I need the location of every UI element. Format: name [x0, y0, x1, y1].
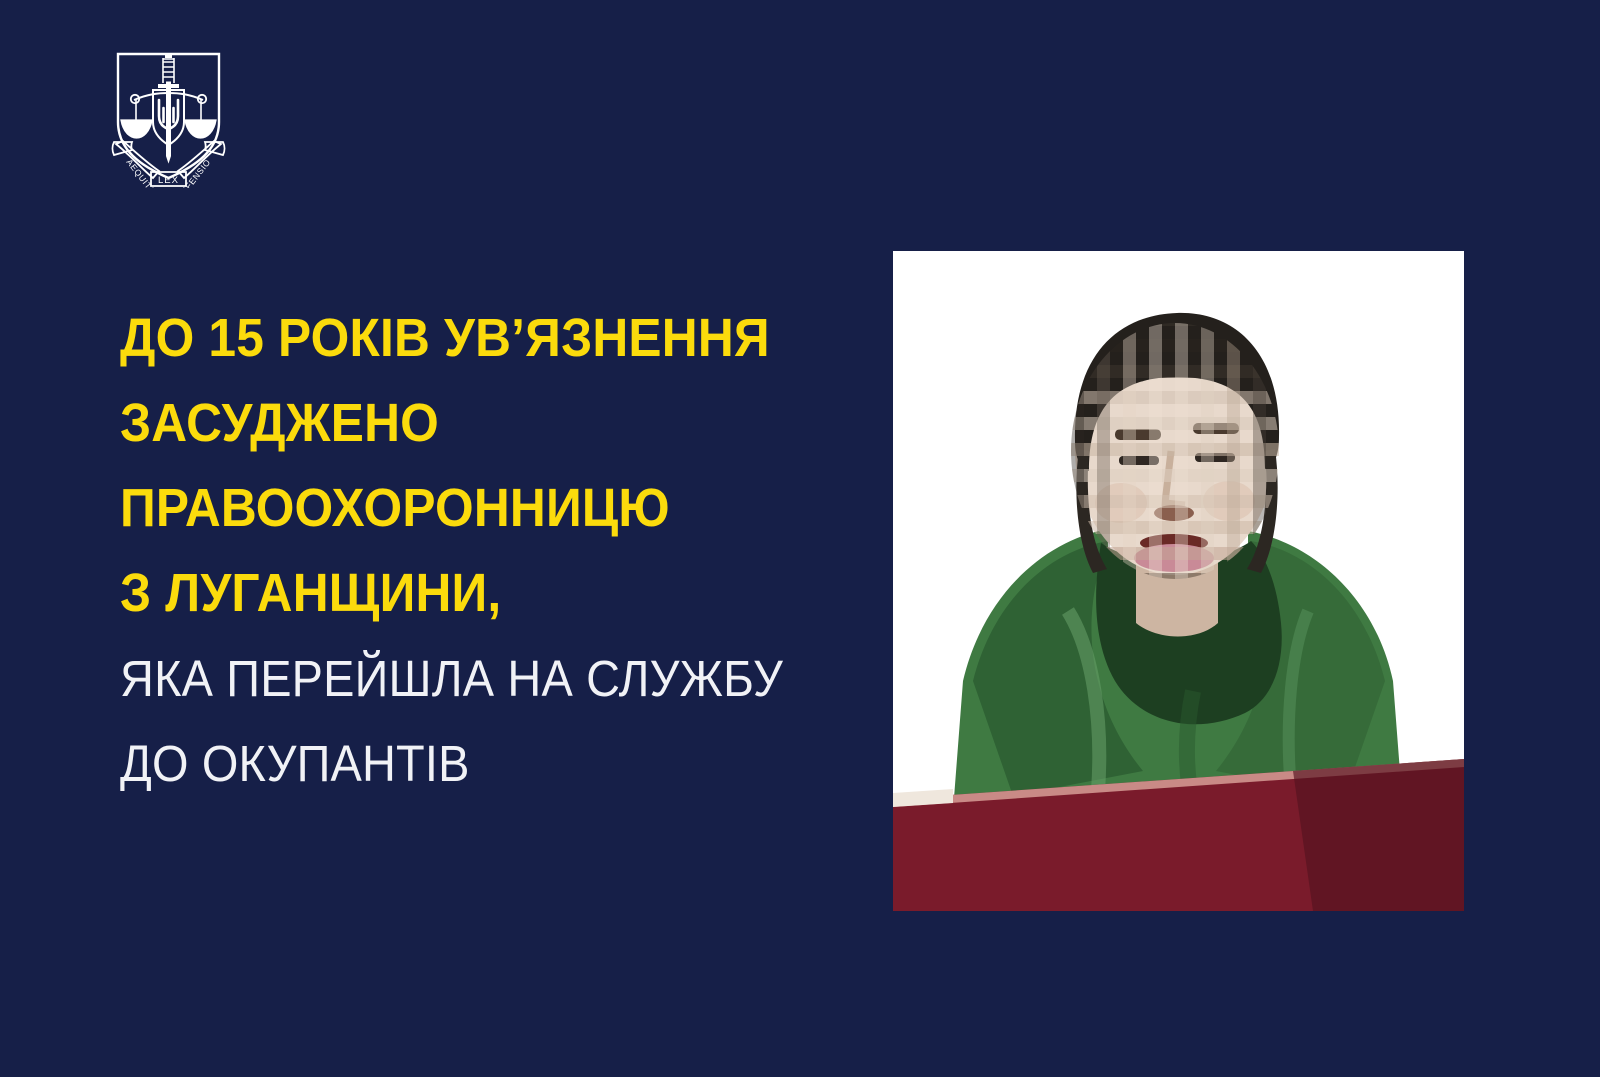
tryzub-icon: [159, 98, 178, 138]
sword-grip: [163, 59, 174, 77]
suspect-photo: [893, 251, 1464, 911]
sword-guard: [158, 84, 179, 88]
headline-block: ДО 15 РОКІВ УВ’ЯЗНЕННЯ ЗАСУДЖЕНО ПРАВООХ…: [120, 296, 820, 806]
headline-line-1: ДО 15 РОКІВ УВ’ЯЗНЕННЯ: [120, 296, 764, 381]
desk-shadow-right: [1293, 759, 1464, 911]
motto-center: LEX: [158, 175, 179, 186]
photo-artwork: [893, 251, 1464, 911]
emblem-artwork: AEQUITAS DEFENSIO LEX: [96, 38, 241, 188]
prosecutor-general-emblem: AEQUITAS DEFENSIO LEX: [96, 38, 241, 188]
sword-pommel: [165, 53, 172, 58]
subtitle-line-1: ЯКА ПЕРЕЙШЛА НА СЛУЖБУ: [120, 636, 764, 721]
subtitle-line-2: ДО ОКУПАНТІВ: [120, 721, 764, 806]
headline-line-3: ПРАВООХОРОННИЦЮ: [120, 466, 764, 551]
scales-right-pan: [185, 120, 216, 138]
headline-line-4: З ЛУГАНЩИНИ,: [120, 551, 764, 636]
scales-left-pan: [121, 120, 152, 138]
headline-line-2: ЗАСУДЖЕНО: [120, 381, 764, 466]
